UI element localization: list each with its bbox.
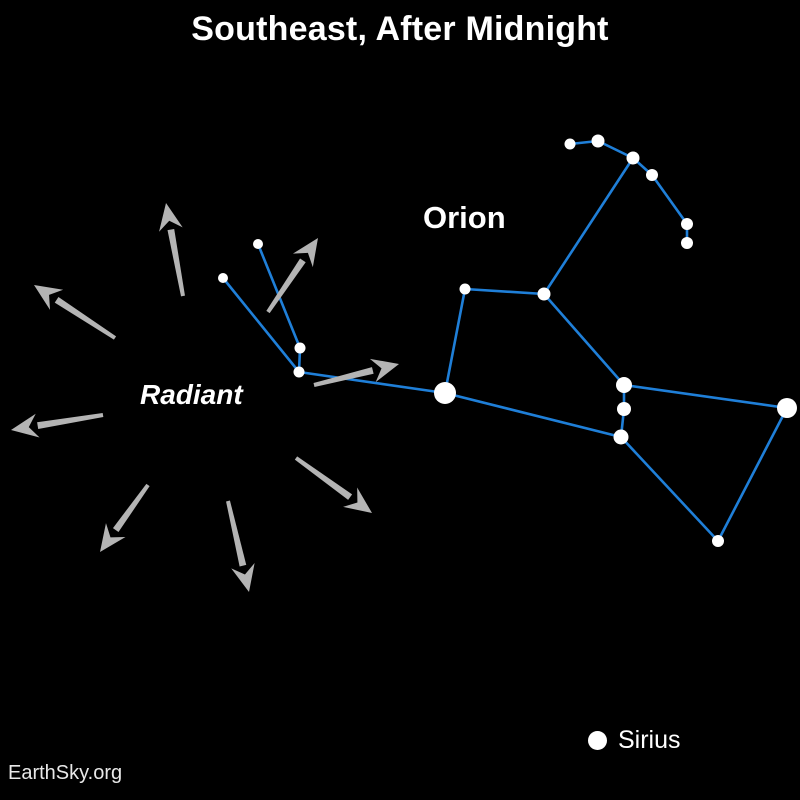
arrow-head	[159, 203, 183, 232]
legend-sirius: Sirius	[588, 726, 681, 755]
star-marker	[592, 135, 605, 148]
arrow-shaft	[295, 456, 352, 500]
arrow-down	[226, 501, 255, 592]
constellation-line	[544, 158, 633, 294]
arrow-shaft	[226, 501, 246, 567]
page-title: Southeast, After Midnight	[0, 10, 800, 49]
arrow-shaft	[168, 229, 185, 296]
star-marker	[646, 169, 658, 181]
star-marker	[681, 218, 693, 230]
arrow-lower-left	[100, 484, 150, 552]
star-marker	[295, 343, 306, 354]
watermark: EarthSky.org	[8, 762, 122, 785]
star-marker	[538, 288, 551, 301]
arrow-head	[100, 523, 125, 552]
star-marker	[614, 430, 629, 445]
legend-sirius-label: Sirius	[618, 726, 681, 755]
arrow-shaft	[37, 413, 103, 429]
constellation-line	[718, 408, 787, 541]
star-marker	[294, 367, 305, 378]
arrow-right	[314, 359, 399, 387]
star-marker	[681, 237, 693, 249]
constellation-line	[223, 278, 299, 372]
star-marker	[627, 152, 640, 165]
arrow-head	[231, 563, 254, 592]
constellation-line	[621, 437, 718, 541]
sky-map-canvas	[0, 0, 800, 800]
arrow-shaft	[314, 367, 374, 387]
arrow-up-right	[266, 238, 318, 313]
arrow-upper-left	[34, 285, 116, 340]
constellation-label-orion: Orion	[423, 200, 506, 236]
star-chart: Southeast, After Midnight Orion Radiant …	[0, 0, 800, 800]
arrow-lower-right	[295, 456, 372, 513]
star-marker	[565, 139, 576, 150]
star-marker	[218, 273, 228, 283]
arrow-head	[293, 238, 318, 267]
star-marker	[253, 239, 263, 249]
radiant-label: Radiant	[140, 379, 243, 411]
constellation-line	[652, 175, 687, 224]
constellation-line	[465, 289, 544, 294]
arrow-shaft	[266, 258, 305, 313]
constellation-line	[445, 289, 465, 393]
star-marker	[617, 402, 631, 416]
star-marker	[434, 382, 456, 404]
arrow-head	[11, 414, 40, 438]
star-dot-icon	[588, 731, 607, 750]
arrow-up	[159, 203, 185, 296]
constellation-line	[544, 294, 624, 385]
star-marker	[616, 377, 632, 393]
arrow-shaft	[55, 297, 116, 340]
arrow-shaft	[113, 484, 150, 532]
arrow-left	[11, 413, 103, 437]
constellation-line	[445, 393, 621, 437]
star-marker	[777, 398, 797, 418]
constellation-line	[624, 385, 787, 408]
stars-group	[218, 135, 797, 548]
arrow-head	[370, 359, 399, 382]
star-marker	[712, 535, 724, 547]
star-marker	[460, 284, 471, 295]
